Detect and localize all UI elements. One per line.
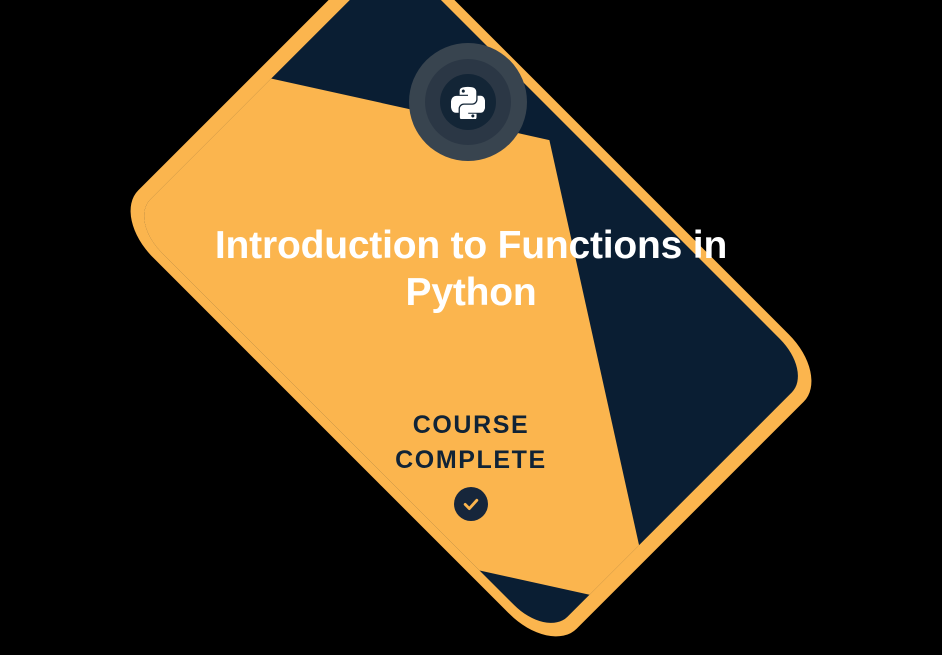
course-completion-badge: Introduction to Functions in Python COUR… [0,0,942,567]
status-line-complete: COMPLETE [271,443,671,478]
python-logo-icon [440,74,496,130]
course-title: Introduction to Functions in Python [171,222,771,316]
completion-status: COURSE COMPLETE [271,408,671,521]
badge-content: Introduction to Functions in Python COUR… [0,0,942,567]
check-circle-icon [454,487,488,521]
python-emblem-ring [425,59,511,145]
status-line-course: COURSE [271,408,671,443]
python-emblem [409,43,527,161]
